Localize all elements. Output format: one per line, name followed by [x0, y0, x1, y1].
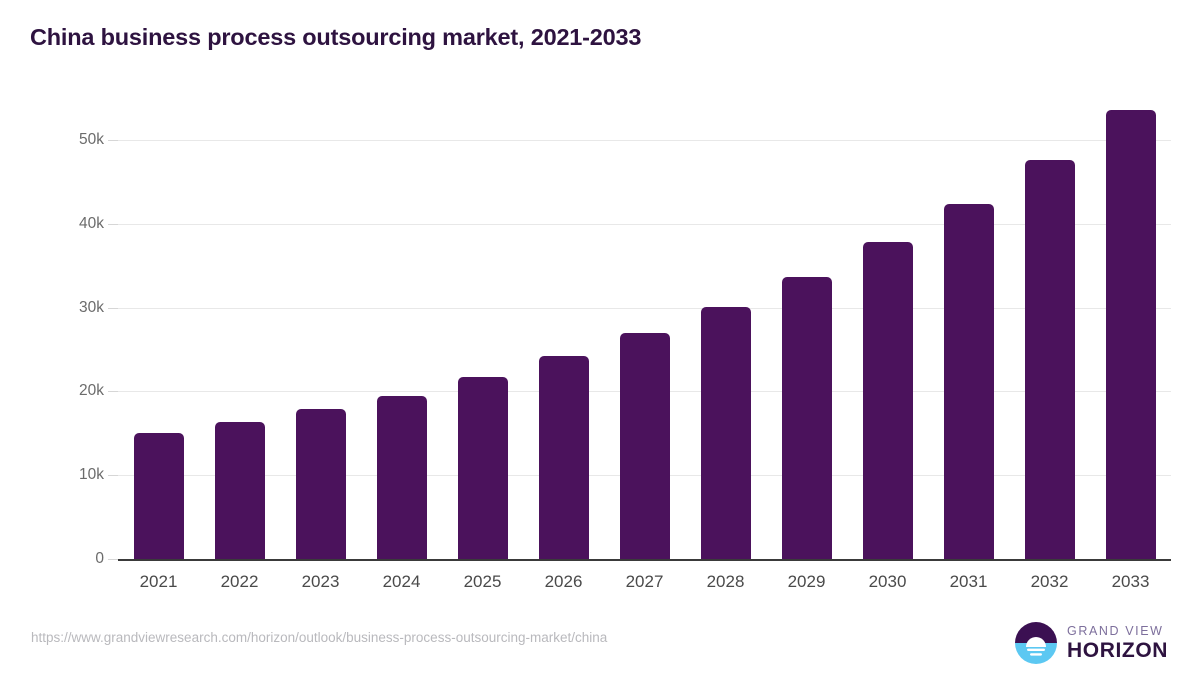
- chart-page: China business process outsourcing marke…: [0, 0, 1200, 675]
- bar[interactable]: [1025, 160, 1075, 559]
- brand-logo[interactable]: GRAND VIEW HORIZON: [1014, 620, 1174, 666]
- y-tick-label: 20k: [0, 382, 104, 400]
- x-tick-label: 2021: [114, 572, 204, 592]
- logo-line-grand-view: GRAND VIEW: [1067, 624, 1168, 639]
- x-tick-label: 2032: [1005, 572, 1095, 592]
- bar[interactable]: [701, 307, 751, 559]
- bar[interactable]: [215, 422, 265, 559]
- logo-text: GRAND VIEW HORIZON: [1067, 624, 1168, 662]
- x-tick-label: 2031: [924, 572, 1014, 592]
- y-tick-label: 0: [0, 550, 104, 568]
- y-tick-label: 40k: [0, 215, 104, 233]
- y-tick-label: 10k: [0, 466, 104, 484]
- y-tick-mark: [108, 559, 118, 560]
- x-tick-label: 2033: [1086, 572, 1176, 592]
- bar[interactable]: [863, 242, 913, 559]
- gridline: [118, 308, 1171, 309]
- y-tick-mark: [108, 391, 118, 392]
- bar[interactable]: [134, 433, 184, 559]
- gridline: [118, 224, 1171, 225]
- horizon-sun-icon: [1014, 621, 1058, 665]
- x-tick-label: 2028: [681, 572, 771, 592]
- y-tick-mark: [108, 475, 118, 476]
- bar[interactable]: [1106, 110, 1156, 559]
- bar[interactable]: [296, 409, 346, 559]
- gridline: [118, 140, 1171, 141]
- x-tick-label: 2030: [843, 572, 933, 592]
- x-tick-label: 2023: [276, 572, 366, 592]
- x-tick-label: 2027: [600, 572, 690, 592]
- bar[interactable]: [620, 333, 670, 559]
- bar[interactable]: [944, 204, 994, 559]
- bar[interactable]: [539, 356, 589, 559]
- page-title: China business process outsourcing marke…: [30, 24, 641, 51]
- bar[interactable]: [458, 377, 508, 559]
- bar[interactable]: [782, 277, 832, 559]
- y-tick-label: 50k: [0, 131, 104, 149]
- x-tick-label: 2026: [519, 572, 609, 592]
- y-tick-label: 30k: [0, 299, 104, 317]
- x-tick-label: 2022: [195, 572, 285, 592]
- x-axis-line: [118, 559, 1171, 561]
- x-tick-label: 2025: [438, 572, 528, 592]
- bar[interactable]: [377, 396, 427, 559]
- plot-area: [118, 100, 1171, 559]
- y-tick-mark: [108, 224, 118, 225]
- source-url[interactable]: https://www.grandviewresearch.com/horizo…: [31, 630, 607, 645]
- logo-line-horizon: HORIZON: [1067, 639, 1168, 662]
- x-tick-label: 2024: [357, 572, 447, 592]
- y-tick-mark: [108, 308, 118, 309]
- y-tick-mark: [108, 140, 118, 141]
- x-tick-label: 2029: [762, 572, 852, 592]
